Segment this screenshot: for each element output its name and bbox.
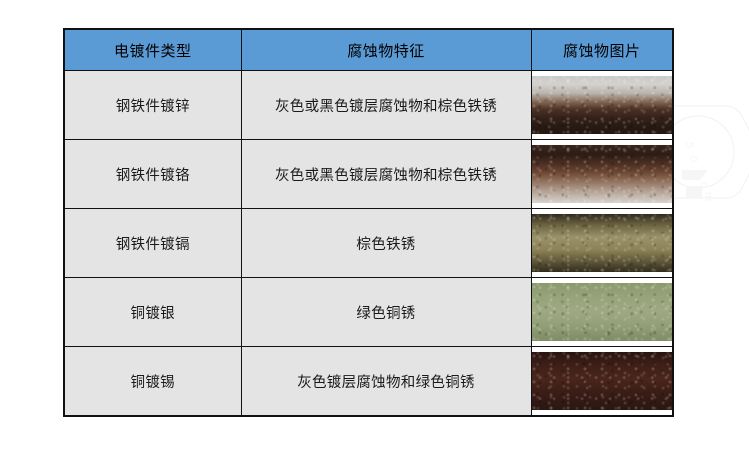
photo-grain-overlay — [532, 145, 673, 203]
cell-feature: 灰色或黑色镀层腐蚀物和棕色铁锈 — [241, 71, 531, 140]
watermark-text-b: 0 — [687, 156, 699, 162]
cell-type: 钢铁件镀镉 — [64, 209, 241, 278]
cell-picture — [531, 71, 673, 140]
photo-grain-overlay — [532, 283, 673, 341]
cell-feature: 灰色镀层腐蚀物和绿色铜锈 — [241, 347, 531, 417]
cell-feature: 灰色或黑色镀层腐蚀物和棕色铁锈 — [241, 140, 531, 209]
watermark-text-c: . — [690, 166, 702, 169]
table-row: 钢铁件镀镉 棕色铁锈 — [64, 209, 673, 278]
table-row: 铜镀锡 灰色镀层腐蚀物和绿色铜锈 — [64, 347, 673, 417]
corrosion-photo-zinc-steel — [532, 76, 673, 134]
corrosion-photo-tin-copper — [532, 352, 673, 410]
cell-type: 钢铁件镀锌 — [64, 71, 241, 140]
photo-grain-overlay — [532, 214, 673, 272]
cell-feature: 棕色铁锈 — [241, 209, 531, 278]
cell-type: 铜镀银 — [64, 278, 241, 347]
table-row: 钢铁件镀锌 灰色或黑色镀层腐蚀物和棕色铁锈 — [64, 71, 673, 140]
corrosion-table: 电镀件类型 腐蚀物特征 腐蚀物图片 钢铁件镀锌 灰色或黑色镀层腐蚀物和棕色铁锈 … — [63, 28, 674, 417]
cell-picture — [531, 140, 673, 209]
watermark-text-f: m — [702, 192, 714, 201]
header-row: 电镀件类型 腐蚀物特征 腐蚀物图片 — [64, 29, 673, 71]
corrosion-photo-cadmium-steel — [532, 214, 673, 272]
photo-grain-overlay — [532, 352, 673, 410]
table-header: 电镀件类型 腐蚀物特征 腐蚀物图片 — [64, 29, 673, 71]
column-header-feature: 腐蚀物特征 — [241, 29, 531, 71]
table-body: 钢铁件镀锌 灰色或黑色镀层腐蚀物和棕色铁锈 钢铁件镀铬 灰色或黑色镀层腐蚀物和棕… — [64, 71, 673, 417]
column-header-picture: 腐蚀物图片 — [531, 29, 673, 71]
column-header-type: 电镀件类型 — [64, 29, 241, 71]
corrosion-photo-silver-copper — [532, 283, 673, 341]
watermark-text-d: c — [694, 172, 706, 178]
watermark: 5 0 . c o m — [664, 98, 749, 206]
table-row: 钢铁件镀铬 灰色或黑色镀层腐蚀物和棕色铁锈 — [64, 140, 673, 209]
watermark-text-e: o — [698, 182, 710, 188]
corrosion-table-container: 电镀件类型 腐蚀物特征 腐蚀物图片 钢铁件镀锌 灰色或黑色镀层腐蚀物和棕色铁锈 … — [63, 28, 672, 413]
corrosion-photo-chrome-steel — [532, 145, 673, 203]
photo-grain-overlay — [532, 76, 673, 134]
table-row: 铜镀银 绿色铜锈 — [64, 278, 673, 347]
cell-type: 钢铁件镀铬 — [64, 140, 241, 209]
cell-picture — [531, 347, 673, 417]
cell-feature: 绿色铜锈 — [241, 278, 531, 347]
cell-picture — [531, 209, 673, 278]
watermark-text-a: 5 — [683, 142, 695, 148]
cell-picture — [531, 278, 673, 347]
cell-type: 铜镀锡 — [64, 347, 241, 417]
